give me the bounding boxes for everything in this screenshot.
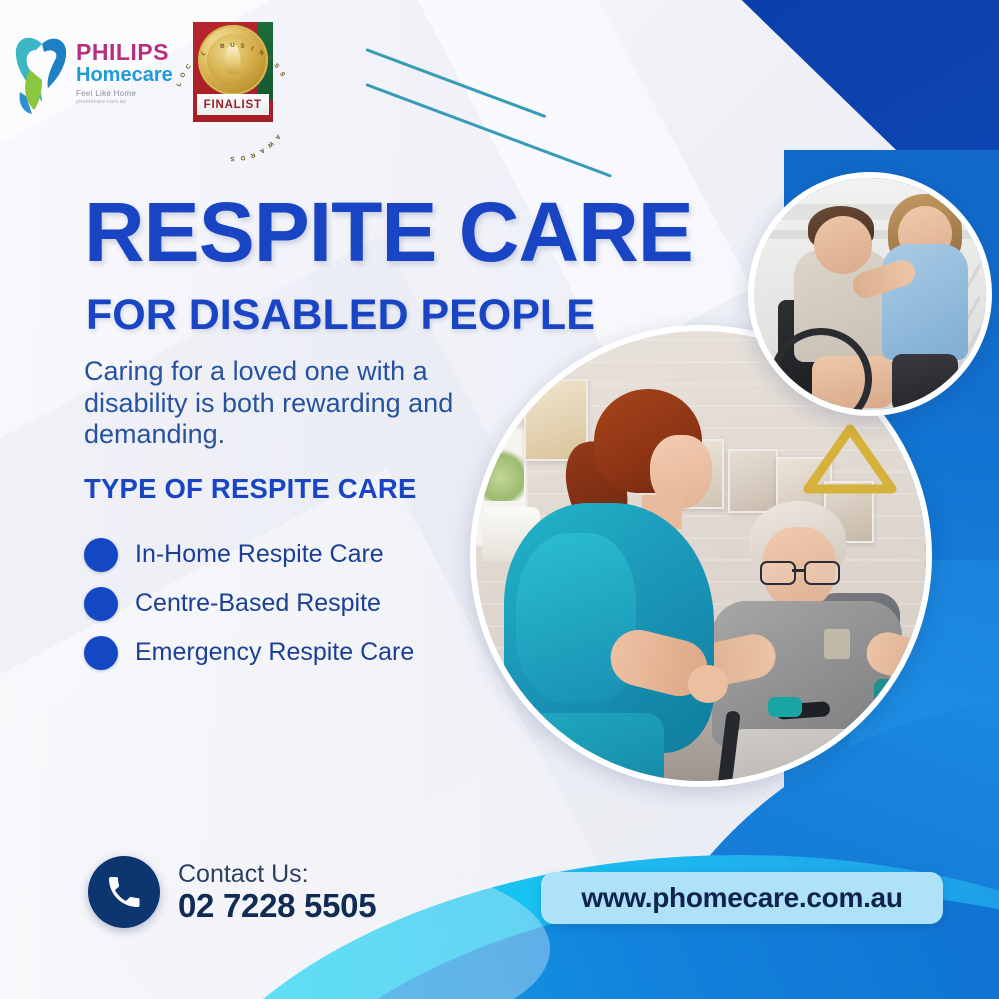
wheelchair-user-face bbox=[814, 216, 872, 274]
nurse-hand bbox=[688, 665, 728, 703]
elder-legs bbox=[728, 729, 898, 787]
bullet-dot-icon bbox=[84, 636, 118, 670]
brand-tagline: Feel Like Home bbox=[76, 90, 173, 98]
photo-small-scene bbox=[754, 178, 986, 410]
list-item-label: Centre-Based Respite bbox=[135, 589, 381, 618]
contact-block[interactable]: Contact Us: 02 7228 5505 bbox=[88, 856, 376, 928]
list-item-label: Emergency Respite Care bbox=[135, 638, 414, 667]
list-item: Centre-Based Respite bbox=[84, 579, 414, 628]
heart-swoosh-icon bbox=[12, 30, 72, 116]
website-url: www.phomecare.com.au bbox=[581, 882, 902, 914]
walking-frame-grip-right bbox=[874, 679, 896, 705]
respite-care-promo-poster: PHILIPS Homecare Feel Like Home phomecar… bbox=[0, 0, 999, 999]
bullet-dot-icon bbox=[84, 587, 118, 621]
scene-nurse bbox=[492, 383, 742, 783]
intro-paragraph: Caring for a loved one with a disability… bbox=[84, 356, 524, 451]
contact-label: Contact Us: bbox=[178, 861, 376, 888]
brand-url-small: phomecare.com.au bbox=[76, 100, 173, 106]
phone-number[interactable]: 02 7228 5505 bbox=[178, 888, 376, 924]
phone-icon bbox=[88, 856, 160, 928]
types-subheading: TYPE OF RESPITE CARE bbox=[84, 473, 417, 505]
list-item-label: In-Home Respite Care bbox=[135, 540, 384, 569]
page-title: RESPITE CARE bbox=[84, 190, 693, 274]
logo-row: PHILIPS Homecare Feel Like Home phomecar… bbox=[12, 14, 273, 122]
brand-logo[interactable]: PHILIPS Homecare Feel Like Home phomecar… bbox=[12, 14, 173, 116]
photo-carer-with-wheelchair-user bbox=[748, 172, 992, 416]
website-pill[interactable]: www.phomecare.com.au bbox=[541, 872, 943, 924]
scene-trapeze-handle bbox=[802, 423, 898, 497]
page-subtitle: FOR DISABLED PEOPLE bbox=[86, 294, 595, 337]
types-list: In-Home Respite Care Centre-Based Respit… bbox=[84, 530, 414, 677]
brand-text-block: PHILIPS Homecare Feel Like Home phomecar… bbox=[76, 41, 173, 106]
contact-text: Contact Us: 02 7228 5505 bbox=[178, 861, 376, 924]
list-item: Emergency Respite Care bbox=[84, 628, 414, 677]
elder-shirt-pocket bbox=[824, 629, 850, 659]
nurse-scrubs-pants bbox=[514, 713, 664, 787]
award-badge: FINALIST LOCALBUSINESSAWARDS bbox=[193, 22, 273, 122]
brand-name-secondary: Homecare bbox=[76, 65, 173, 85]
walking-frame-grip-left bbox=[768, 697, 802, 717]
elder-glasses-icon bbox=[760, 561, 840, 581]
list-item: In-Home Respite Care bbox=[84, 530, 414, 579]
brand-name-primary: PHILIPS bbox=[76, 41, 173, 64]
award-arc-text: LOCALBUSINESSAWARDS bbox=[193, 22, 273, 122]
carer-legs bbox=[892, 354, 958, 412]
bullet-dot-icon bbox=[84, 538, 118, 572]
